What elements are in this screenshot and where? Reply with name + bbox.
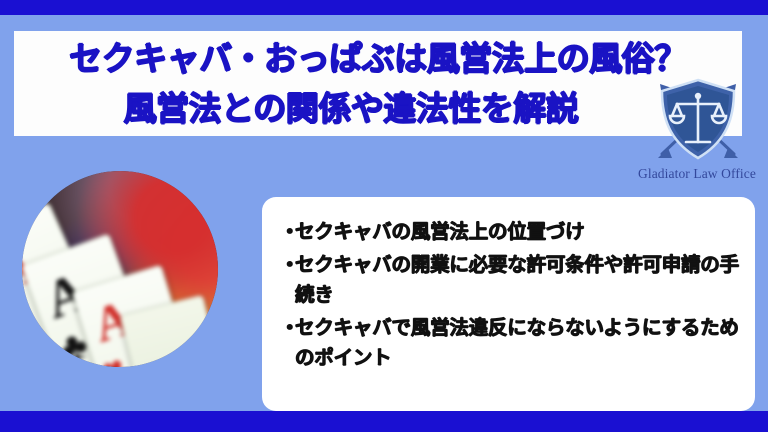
- playing-cards-casino-photo: A A ♣ A ♥: [22, 171, 218, 367]
- list-item: ・ セクキャバで風営法違反にならないようにするためのポイント: [280, 313, 740, 373]
- list-item: ・ セクキャバの風営法上の位置づけ: [280, 217, 740, 247]
- title-box: セクキャバ・おっぱぶは風営法上の風俗？ 風営法との関係や違法性を解説: [14, 31, 742, 136]
- bullet-marker-icon: ・: [280, 217, 295, 247]
- photo-inner: A A ♣ A ♥: [22, 171, 218, 367]
- bottom-accent-bar: [0, 411, 768, 432]
- bullets-list: ・ セクキャバの風営法上の位置づけ ・ セクキャバの開業に必要な許可条件や許可申…: [280, 217, 740, 376]
- brand-logo: Gladiator Law Office: [636, 78, 758, 190]
- title-lines: セクキャバ・おっぱぶは風営法上の風俗？ 風営法との関係や違法性を解説: [14, 31, 742, 136]
- top-accent-bar: [0, 0, 768, 15]
- thumbnail-banner: セクキャバ・おっぱぶは風営法上の風俗？ 風営法との関係や違法性を解説: [0, 0, 768, 432]
- title-line-1: セクキャバ・おっぱぶは風営法上の風俗？: [69, 34, 687, 84]
- bullet-marker-icon: ・: [280, 313, 295, 343]
- shield-scales-swords-icon: [650, 78, 746, 164]
- list-item-label: セクキャバの開業に必要な許可条件や許可申請の手続き: [295, 250, 740, 310]
- list-item: ・ セクキャバの開業に必要な許可条件や許可申請の手続き: [280, 250, 740, 310]
- logo-wordmark: Gladiator Law Office: [636, 166, 758, 182]
- title-line-2: 風営法との関係や違法性を解説: [124, 84, 633, 134]
- list-item-label: セクキャバの風営法上の位置づけ: [295, 217, 740, 247]
- bullets-panel: ・ セクキャバの風営法上の位置づけ ・ セクキャバの開業に必要な許可条件や許可申…: [262, 197, 755, 411]
- list-item-label: セクキャバで風営法違反にならないようにするためのポイント: [295, 313, 740, 373]
- heart-suit-icon: ♥: [98, 350, 129, 367]
- bullet-marker-icon: ・: [280, 250, 295, 280]
